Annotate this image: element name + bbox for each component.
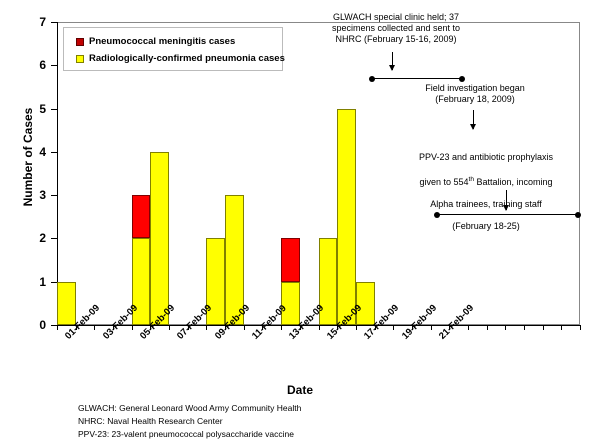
x-axis-title: Date: [0, 383, 600, 397]
x-tick-6: [169, 325, 170, 330]
annotation-field-investigation-text: Field investigation began (February 18, …: [395, 83, 555, 105]
legend-swatch-meningitis-icon: [76, 38, 84, 46]
legend-swatch-pneumonia-icon: [76, 55, 84, 63]
bar-segment-pneumonia: [337, 109, 356, 325]
annotation-field-investigation-arrow-icon: [473, 110, 474, 129]
legend-label-meningitis: Pneumococcal meningitis cases: [89, 36, 235, 47]
annotation-ppv23-range-bar: [437, 214, 578, 215]
y-axis-title: Number of Cases: [21, 87, 35, 227]
legend-item-pneumonia: Radiologically-confirmed pneumonia cases: [76, 50, 282, 67]
x-tick-4: [132, 325, 133, 330]
y-tick-5: [51, 109, 57, 110]
y-tick-7: [51, 22, 57, 23]
x-tick-16: [356, 325, 357, 330]
y-tick-label-0: 0: [22, 320, 46, 330]
x-tick-14: [319, 325, 320, 330]
range-cap-right-icon: [575, 212, 581, 218]
x-tick-12: [281, 325, 282, 330]
y-tick-label-1: 1: [22, 277, 46, 287]
bar-segment-meningitis: [281, 238, 300, 281]
annotation-ppv23-line2-post: Battalion, incoming: [474, 177, 553, 187]
y-tick-3: [51, 195, 57, 196]
bar-16-Feb-09: [337, 109, 356, 325]
annotation-ppv23-line4: (February 18-25): [452, 221, 520, 231]
y-tick-label-7: 7: [22, 17, 46, 27]
annotation-ppv23-arrow-icon: [506, 190, 507, 210]
footnote-nhrc: NHRC: Naval Health Research Center: [78, 415, 538, 428]
bar-segment-pneumonia: [150, 152, 169, 325]
x-tick-27: [561, 325, 562, 330]
range-cap-right-icon: [459, 76, 465, 82]
bar-segment-meningitis: [132, 195, 151, 238]
x-tick-23: [487, 325, 488, 330]
legend-label-pneumonia: Radiologically-confirmed pneumonia cases: [89, 53, 285, 64]
bar-segment-pneumonia: [281, 282, 300, 325]
x-tick-24: [505, 325, 506, 330]
annotation-ppv23-text: PPV-23 and antibiotic prophylaxis given …: [400, 141, 572, 232]
bar-17-Feb-09: [356, 282, 375, 325]
annotation-ppv23-line3: Alpha trainees, training staff: [430, 199, 541, 209]
x-tick-28: [580, 325, 581, 330]
x-tick-22: [468, 325, 469, 330]
x-tick-25: [524, 325, 525, 330]
footnote-glwach: GLWACH: General Leonard Wood Army Commun…: [78, 402, 538, 415]
y-axis-line: [57, 22, 58, 326]
x-tick-2: [94, 325, 95, 330]
y-tick-label-6: 6: [22, 60, 46, 70]
epidemic-curve-chart: 01234567 Number of Cases 01-Feb-0903-Feb…: [0, 0, 600, 446]
bar-01-Feb-09: [57, 282, 76, 325]
y-tick-4: [51, 152, 57, 153]
annotation-ppv23-line1: PPV-23 and antibiotic prophylaxis: [419, 152, 553, 162]
annotation-glwach-arrow-icon: [392, 52, 393, 70]
footnotes: GLWACH: General Leonard Wood Army Commun…: [78, 402, 538, 441]
bar-segment-pneumonia: [57, 282, 76, 325]
x-tick-8: [206, 325, 207, 330]
footnote-ppv23: PPV-23: 23-valent pneumococcal polysacch…: [78, 428, 538, 441]
range-cap-left-icon: [369, 76, 375, 82]
y-tick-6: [51, 65, 57, 66]
bar-06-Feb-09: [150, 152, 169, 325]
y-tick-2: [51, 238, 57, 239]
annotation-ppv23-line2-pre: given to 554: [419, 177, 468, 187]
annotation-glwach-range-bar: [372, 78, 462, 79]
range-cap-left-icon: [434, 212, 440, 218]
y-tick-label-2: 2: [22, 233, 46, 243]
legend-item-meningitis: Pneumococcal meningitis cases: [76, 33, 282, 50]
x-tick-18: [393, 325, 394, 330]
bar-segment-pneumonia: [356, 282, 375, 325]
legend: Pneumococcal meningitis cases Radiologic…: [63, 27, 283, 71]
x-tick-26: [543, 325, 544, 330]
annotation-glwach-clinic-text: GLWACH special clinic held; 37 specimens…: [316, 12, 476, 45]
x-tick-20: [431, 325, 432, 330]
x-tick-10: [244, 325, 245, 330]
x-tick-0: [57, 325, 58, 330]
